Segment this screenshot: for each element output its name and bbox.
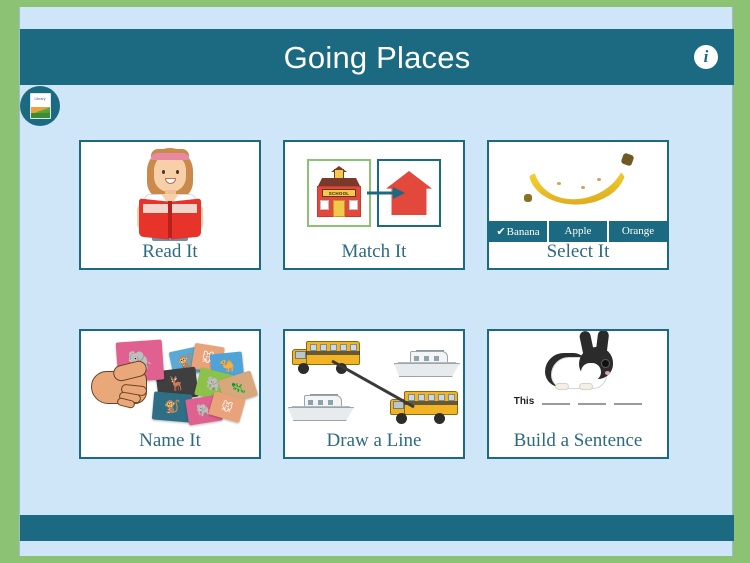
picture-cards-icon: 🐒 🐭 🐪 🦌 🐘 🦎 🐒 🐘 🐭 🐘 (85, 337, 255, 425)
match-arrow-icon (367, 187, 405, 199)
girl-reading-icon (127, 146, 213, 242)
activity-row-2: 🐒 🐭 🐪 🦌 🐘 🦎 🐒 🐘 🐭 🐘 (79, 329, 679, 459)
activity-tile-read-it[interactable]: Read It (79, 140, 261, 270)
build-a-sentence-art: This (489, 331, 667, 431)
match-source-box: SCHOOL (307, 159, 371, 227)
activity-label-draw-a-line: Draw a Line (285, 431, 463, 457)
activity-label-read-it: Read It (81, 242, 259, 268)
boat-top-right (394, 343, 460, 379)
school-building-icon: SCHOOL (313, 168, 365, 218)
info-icon[interactable]: i (694, 45, 718, 69)
answer-choice-orange-label: Orange (622, 225, 654, 237)
answer-choice-banana[interactable]: ✔Banana (489, 221, 547, 242)
banana-icon (523, 152, 633, 210)
library-card-landscape (31, 107, 50, 118)
activity-label-name-it: Name It (81, 431, 259, 457)
check-icon: ✔ (496, 225, 506, 238)
buses-and-boats-icon (288, 335, 460, 427)
activity-label-select-it: Select It (489, 242, 667, 268)
draw-a-line-art (285, 331, 463, 431)
page-title: Going Places (284, 42, 471, 73)
rabbit-icon (535, 333, 621, 395)
hand-icon (91, 365, 165, 411)
library-book-icon: Library (30, 93, 51, 119)
activity-grid: Read It SCHOOL (79, 140, 679, 459)
school-bus-top-left (292, 339, 360, 373)
sentence-blank-1[interactable] (542, 403, 570, 405)
read-it-art (81, 142, 259, 242)
sentence-builder-row: This (514, 396, 643, 407)
activity-tile-build-a-sentence[interactable]: This Build a Sentence (487, 329, 669, 459)
activity-tile-name-it[interactable]: 🐒 🐭 🐪 🦌 🐘 🦎 🐒 🐘 🐭 🐘 (79, 329, 261, 459)
sentence-blank-3[interactable] (614, 403, 642, 405)
activity-tile-select-it[interactable]: ✔Banana Apple Orange Select It (487, 140, 669, 270)
answer-choice-banana-label: Banana (507, 226, 540, 238)
select-it-art (489, 142, 667, 221)
answer-choice-orange[interactable]: Orange (609, 221, 667, 242)
name-it-art: 🐒 🐭 🐪 🦌 🐘 🦎 🐒 🐘 🐭 🐘 (81, 331, 259, 431)
answer-choice-row: ✔Banana Apple Orange (489, 221, 667, 242)
school-bus-bottom-right (390, 389, 458, 423)
answer-choice-apple[interactable]: Apple (549, 221, 607, 242)
activity-tile-match-it[interactable]: SCHOOL Match (283, 140, 465, 270)
library-button[interactable]: Library (20, 86, 60, 126)
boat-bottom-left (288, 387, 354, 423)
sentence-word-this: This (514, 396, 535, 407)
answer-choice-apple-label: Apple (565, 225, 592, 237)
activity-label-build-a-sentence: Build a Sentence (489, 431, 667, 457)
activity-label-match-it: Match It (285, 242, 463, 268)
activity-row-1: Read It SCHOOL (79, 140, 679, 270)
activity-tile-draw-a-line[interactable]: Draw a Line (283, 329, 465, 459)
app-header: Going Places i (20, 29, 734, 85)
app-footer (20, 515, 734, 541)
app-frame: Going Places i Library (19, 7, 733, 556)
match-it-art: SCHOOL (285, 142, 463, 242)
sentence-blank-2[interactable] (578, 403, 606, 405)
